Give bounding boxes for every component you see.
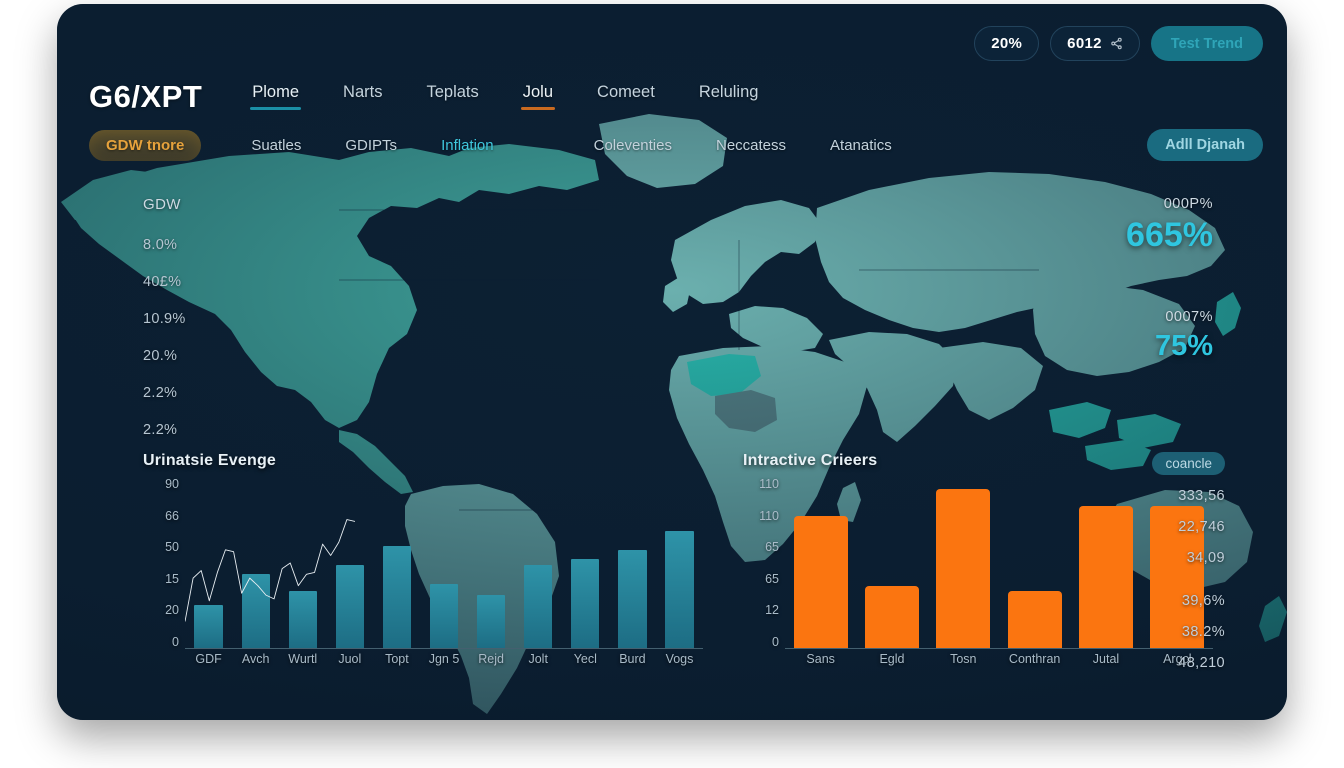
subnav-item-atanatics[interactable]: Atanatics — [808, 137, 914, 154]
bar[interactable] — [383, 546, 411, 648]
stats-gap — [1053, 254, 1213, 309]
map-left-stat-value: 20.% — [143, 348, 293, 364]
x-tick: Vogs — [656, 652, 703, 672]
chart-plot-area — [185, 478, 703, 649]
map-left-stats-caption: GDW — [143, 196, 293, 213]
bar[interactable] — [194, 605, 222, 648]
map-right-stat-label-2: 0007% — [1053, 309, 1213, 325]
map-left-stats: GDW 8.0% 40£% 10.9% 20.% 2.2% 2.2% — [143, 196, 293, 459]
chart-title: Urinatsie Evenge — [143, 452, 703, 470]
nav-tab-label: Jolu — [523, 83, 553, 101]
percent-pill[interactable]: 20% — [974, 26, 1039, 61]
map-left-stat-value: 2.2% — [143, 385, 293, 401]
nav-tab-label: Teplats — [426, 83, 478, 101]
nav-tab-jolu[interactable]: Jolu — [501, 84, 575, 113]
bar-slot[interactable] — [515, 478, 562, 648]
x-tick: Yecl — [562, 652, 609, 672]
share-icon — [1110, 37, 1123, 50]
subnav-item-inflation[interactable]: Inflation — [419, 137, 516, 154]
screenshot-root: G6/XPT Plome Narts Teplats Jolu — [0, 0, 1344, 768]
chart-y-axis: 110 110 65 65 12 0 — [743, 478, 779, 648]
bar[interactable] — [242, 574, 270, 648]
metrics-sidelist: coancle 333,56 22,746 34,09 39,6% 38.2% … — [1105, 452, 1225, 686]
x-tick: Sans — [785, 652, 856, 672]
test-trend-label: Test Trend — [1171, 36, 1243, 52]
add-djanah-button[interactable]: Adll Djanah — [1147, 129, 1263, 161]
nav-tab-underline — [250, 107, 301, 110]
nav-tab-comeet[interactable]: Comeet — [575, 84, 677, 113]
bar-slot[interactable] — [373, 478, 420, 648]
nav-tab-teplats[interactable]: Teplats — [404, 84, 500, 113]
bar-slot[interactable] — [928, 478, 999, 648]
nav-tab-underline — [521, 107, 555, 110]
x-tick: GDF — [185, 652, 232, 672]
bar-slot[interactable] — [999, 478, 1070, 648]
nav-tab-label: Comeet — [597, 83, 655, 101]
count-value: 6012 — [1067, 35, 1102, 52]
chart-x-axis: GDFAvchWurtlJuolToptJgn 5RejdJoltYeclBur… — [185, 652, 703, 672]
primary-nav: G6/XPT Plome Narts Teplats Jolu — [89, 66, 1263, 112]
map-left-stat-value: 2.2% — [143, 422, 293, 438]
x-tick: Rejd — [468, 652, 515, 672]
y-tick: 20 — [165, 604, 179, 617]
map-right-stat-value-2: 75% — [1053, 331, 1213, 361]
chart-y-axis: 90 66 50 15 20 0 — [143, 478, 179, 648]
header-actions: 20% 6012 Test Trend — [974, 26, 1263, 61]
chart-bars — [185, 478, 703, 648]
count-pill[interactable]: 6012 — [1050, 26, 1140, 61]
bar-slot[interactable] — [326, 478, 373, 648]
secondary-nav: GDW tnore Suatles GDIPTs Inflation Colev… — [89, 128, 1263, 162]
sidelist-number: 48,210 — [1105, 655, 1225, 671]
subnav-item-neccatess[interactable]: Neccatess — [694, 137, 808, 154]
nav-tab-underline — [595, 107, 657, 110]
y-tick: 110 — [759, 510, 779, 523]
chart-urinatsie-evenge: Urinatsie Evenge 90 66 50 15 20 0 GDFAvc… — [143, 452, 703, 692]
subnav-item-gdipts[interactable]: GDIPTs — [323, 137, 419, 154]
y-tick: 110 — [759, 478, 779, 491]
y-tick: 12 — [765, 604, 779, 617]
bar[interactable] — [571, 559, 599, 648]
subnav-item-coleventies[interactable]: Coleventies — [572, 137, 694, 154]
y-tick: 0 — [172, 636, 179, 649]
bar[interactable] — [794, 516, 848, 648]
test-trend-button[interactable]: Test Trend — [1151, 26, 1263, 61]
nav-tab-label: Plome — [252, 83, 299, 101]
nav-tab-narts[interactable]: Narts — [321, 84, 404, 113]
bar-slot[interactable] — [656, 478, 703, 648]
bar-slot[interactable] — [785, 478, 856, 648]
x-tick: Burd — [609, 652, 656, 672]
bar[interactable] — [430, 584, 458, 648]
y-tick: 65 — [765, 541, 779, 554]
bar[interactable] — [865, 586, 919, 648]
header: G6/XPT Plome Narts Teplats Jolu — [57, 4, 1287, 122]
subnav-item-suatles[interactable]: Suatles — [229, 137, 323, 154]
sidelist-number: 38.2% — [1105, 624, 1225, 640]
x-tick: Jgn 5 — [420, 652, 467, 672]
bar-slot[interactable] — [609, 478, 656, 648]
nav-tab-underline — [424, 107, 480, 110]
bar-slot[interactable] — [420, 478, 467, 648]
sidelist-number: 39,6% — [1105, 593, 1225, 609]
nav-tab-reluling[interactable]: Reluling — [677, 84, 781, 113]
x-tick: Egld — [856, 652, 927, 672]
map-left-stat-value: 8.0% — [143, 237, 293, 253]
x-tick: Wurtl — [279, 652, 326, 672]
nav-tab-label: Narts — [343, 83, 382, 101]
chart-plot: 90 66 50 15 20 0 GDFAvchWurtlJuolToptJgn… — [143, 478, 703, 668]
nav-tab-underline — [341, 107, 384, 110]
sidelist-gap — [1105, 581, 1225, 593]
nav-tab-underline — [697, 107, 761, 110]
sidelist-badge[interactable]: coancle — [1152, 452, 1225, 475]
sidelist-number: 22,746 — [1105, 519, 1225, 535]
nav-tab-label: Reluling — [699, 83, 759, 101]
bar[interactable] — [524, 565, 552, 648]
map-left-stat-value: 40£% — [143, 274, 293, 290]
map-left-stat-value: 10.9% — [143, 311, 293, 327]
y-tick: 65 — [765, 573, 779, 586]
dashboard-panel: G6/XPT Plome Narts Teplats Jolu — [57, 4, 1287, 720]
sidelist-number: 333,56 — [1105, 488, 1225, 504]
bar-slot[interactable] — [185, 478, 232, 648]
y-tick: 50 — [165, 541, 179, 554]
bar-slot[interactable] — [279, 478, 326, 648]
y-tick: 15 — [165, 573, 179, 586]
bar[interactable] — [477, 595, 505, 648]
subnav-chip-gdw[interactable]: GDW tnore — [89, 130, 201, 161]
x-tick: Juol — [326, 652, 373, 672]
bar[interactable] — [618, 550, 646, 648]
bar-slot[interactable] — [468, 478, 515, 648]
bar-slot[interactable] — [856, 478, 927, 648]
bar[interactable] — [289, 591, 317, 648]
map-right-stat-label-1: 000P% — [1053, 196, 1213, 212]
y-tick: 0 — [772, 636, 779, 649]
bar-slot[interactable] — [232, 478, 279, 648]
bar-slot[interactable] — [562, 478, 609, 648]
bar[interactable] — [336, 565, 364, 648]
sidelist-number: 34,09 — [1105, 550, 1225, 566]
bar[interactable] — [665, 531, 693, 648]
x-tick: Avch — [232, 652, 279, 672]
x-tick: Topt — [373, 652, 420, 672]
percent-value: 20% — [991, 35, 1022, 52]
x-tick: Tosn — [928, 652, 999, 672]
nav-tab-plome[interactable]: Plome — [230, 84, 321, 113]
y-tick: 66 — [165, 510, 179, 523]
map-right-stat-value-1: 665% — [1053, 218, 1213, 254]
x-tick: Jolt — [515, 652, 562, 672]
x-tick: Conthran — [999, 652, 1070, 672]
map-right-stats: 000P% 665% 0007% 75% — [1053, 196, 1213, 361]
y-tick: 90 — [165, 478, 179, 491]
brand-logo: G6/XPT — [89, 81, 202, 112]
bar[interactable] — [1008, 591, 1062, 648]
bar[interactable] — [936, 489, 990, 648]
